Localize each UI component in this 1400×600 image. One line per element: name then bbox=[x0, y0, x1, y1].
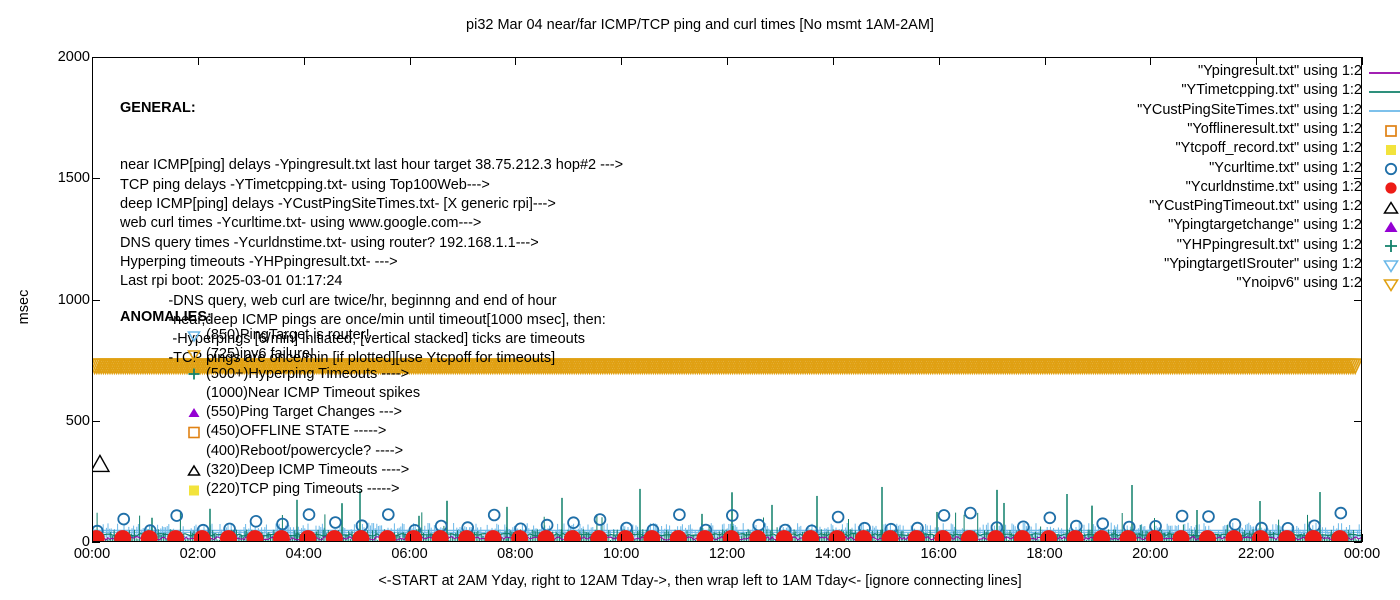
page-title: pi32 Mar 04 near/far ICMP/TCP ping and c… bbox=[0, 17, 1400, 33]
x-tick-mark bbox=[1362, 57, 1363, 65]
anomaly-row: (320)Deep ICMP Timeouts ----> bbox=[206, 461, 420, 480]
legend-key-triangle-up-fill-icon bbox=[1369, 219, 1400, 235]
anomaly-label: (550)Ping Target Changes ---> bbox=[206, 404, 402, 420]
x-tick-mark bbox=[1256, 534, 1257, 542]
legend-key-line-icon bbox=[1369, 84, 1400, 100]
x-tick-mark bbox=[92, 534, 93, 542]
anomaly-label: (450)OFFLINE STATE -----> bbox=[206, 423, 386, 439]
legend-label: "Ytcpoff_record.txt" using 1:2 bbox=[1175, 140, 1362, 156]
legend-label: "YHPpingresult.txt" using 1:2 bbox=[1177, 237, 1362, 253]
legend-key-line-icon bbox=[1369, 65, 1400, 81]
legend-row: "YpingtargetISrouter" using 1:2 bbox=[1164, 256, 1362, 275]
plus-icon bbox=[186, 366, 202, 382]
legend-key-square-open-icon bbox=[1369, 123, 1400, 139]
y-tick-label: 1000 bbox=[58, 292, 90, 308]
y-tick-mark bbox=[1354, 57, 1362, 58]
square-icon bbox=[186, 482, 202, 498]
x-tick-label: 22:00 bbox=[1238, 546, 1274, 562]
x-tick-mark bbox=[92, 57, 93, 65]
legend-key-line-icon bbox=[1369, 103, 1400, 119]
legend-row: "Ypingresult.txt" using 1:2 bbox=[1198, 63, 1362, 82]
x-tick-label: 06:00 bbox=[391, 546, 427, 562]
legend-label: "Ypingresult.txt" using 1:2 bbox=[1198, 63, 1362, 79]
general-line: Last rpi boot: 2025-03-01 01:17:24 bbox=[120, 272, 623, 291]
anomalies-heading: ANOMALIES: bbox=[120, 309, 212, 328]
anomaly-label: (1000)Near ICMP Timeout spikes bbox=[206, 385, 420, 401]
anomaly-label: (220)TCP ping Timeouts -----> bbox=[206, 481, 400, 497]
general-heading: GENERAL: bbox=[120, 99, 623, 118]
x-tick-label: 08:00 bbox=[497, 546, 533, 562]
legend-key-triangle-up-open-icon bbox=[1369, 200, 1400, 216]
x-tick-label: 00:00 bbox=[1344, 546, 1380, 562]
anomaly-row: (850)PingTarget is router! bbox=[206, 326, 420, 345]
x-tick-mark bbox=[1150, 57, 1151, 65]
anomaly-row: (1000)Near ICMP Timeout spikes bbox=[206, 384, 420, 403]
legend-row: "Ycurltime.txt" using 1:2 bbox=[1209, 160, 1362, 179]
anomaly-label: (400)Reboot/powercycle? ----> bbox=[206, 443, 403, 459]
anomaly-label: (725)ipv6 failure! bbox=[206, 346, 314, 362]
triangle-down-icon bbox=[186, 347, 202, 363]
x-tick-mark bbox=[1045, 534, 1046, 542]
y-axis-label: msec bbox=[16, 267, 32, 347]
general-line: DNS query times -Ycurldnstime.txt- using… bbox=[120, 234, 623, 253]
y-tick-mark bbox=[92, 421, 100, 422]
anomaly-row: (725)ipv6 failure! bbox=[206, 345, 420, 364]
x-tick-label: 04:00 bbox=[286, 546, 322, 562]
x-tick-label: 14:00 bbox=[815, 546, 851, 562]
general-line: Hyperping timeouts -YHPpingresult.txt- -… bbox=[120, 253, 623, 272]
general-line: web curl times -Ycurltime.txt- using www… bbox=[120, 214, 623, 233]
legend-label: "YCustPingSiteTimes.txt" using 1:2 bbox=[1137, 102, 1362, 118]
legend-label: "Ynoipv6" using 1:2 bbox=[1236, 275, 1362, 291]
legend-row: "YCustPingSiteTimes.txt" using 1:2 bbox=[1137, 102, 1362, 121]
general-line: -DNS query, web curl are twice/hr, begin… bbox=[120, 292, 623, 311]
x-axis-caption: <-START at 2AM Yday, right to 12AM Tday-… bbox=[0, 573, 1400, 589]
legend-key-circle-fill-icon bbox=[1369, 180, 1400, 196]
no-marker bbox=[186, 386, 202, 402]
legend-key-square-fill-icon bbox=[1369, 142, 1400, 158]
x-tick-mark bbox=[833, 57, 834, 65]
anomaly-label: (850)PingTarget is router! bbox=[206, 327, 370, 343]
x-tick-mark bbox=[833, 534, 834, 542]
x-tick-mark bbox=[515, 534, 516, 542]
legend-label: "YCustPingTimeout.txt" using 1:2 bbox=[1149, 198, 1362, 214]
no-marker bbox=[186, 443, 202, 459]
anomaly-row: (550)Ping Target Changes ---> bbox=[206, 403, 420, 422]
legend-label: "Yofflineresult.txt" using 1:2 bbox=[1187, 121, 1362, 137]
x-tick-mark bbox=[939, 534, 940, 542]
x-tick-label: 10:00 bbox=[603, 546, 639, 562]
y-tick-label: 500 bbox=[66, 413, 90, 429]
anomaly-row: (450)OFFLINE STATE -----> bbox=[206, 422, 420, 441]
x-tick-mark bbox=[410, 534, 411, 542]
legend-key-plus-icon bbox=[1369, 238, 1400, 254]
anomaly-label: (500+)Hyperping Timeouts ----> bbox=[206, 366, 409, 382]
y-tick-mark bbox=[92, 300, 100, 301]
legend-label: "Ycurldnstime.txt" using 1:2 bbox=[1186, 179, 1362, 195]
legend-row: "Ynoipv6" using 1:2 bbox=[1236, 275, 1362, 294]
y-tick-mark bbox=[92, 57, 100, 58]
legend-row: "Ytcpoff_record.txt" using 1:2 bbox=[1175, 140, 1362, 159]
anomaly-row: (220)TCP ping Timeouts -----> bbox=[206, 480, 420, 499]
legend-row: "Ypingtargetchange" using 1:2 bbox=[1168, 217, 1362, 236]
x-tick-label: 02:00 bbox=[180, 546, 216, 562]
triangle-down-icon bbox=[186, 328, 202, 344]
legend-label: "YTimetcpping.txt" using 1:2 bbox=[1181, 82, 1362, 98]
y-tick-mark bbox=[1354, 300, 1362, 301]
x-tick-mark bbox=[727, 534, 728, 542]
legend-key-triangle-dn-open-icon bbox=[1369, 258, 1400, 274]
legend-row: "YCustPingTimeout.txt" using 1:2 bbox=[1149, 198, 1362, 217]
general-line: near ICMP[ping] delays -Ypingresult.txt … bbox=[120, 156, 623, 175]
x-tick-label: 16:00 bbox=[921, 546, 957, 562]
y-tick-mark bbox=[1354, 542, 1362, 543]
legend-key-circle-open-icon bbox=[1369, 161, 1400, 177]
anomalies-annotation-block: (850)PingTarget is router!(725)ipv6 fail… bbox=[206, 326, 420, 500]
legend-row: "Ycurldnstime.txt" using 1:2 bbox=[1186, 179, 1362, 198]
legend-label: "Ycurltime.txt" using 1:2 bbox=[1209, 160, 1362, 176]
y-tick-mark bbox=[1354, 421, 1362, 422]
triangle-up-icon bbox=[186, 405, 202, 421]
x-tick-label: 00:00 bbox=[74, 546, 110, 562]
legend-label: "Ypingtargetchange" using 1:2 bbox=[1168, 217, 1362, 233]
anomaly-row: (500+)Hyperping Timeouts ----> bbox=[206, 365, 420, 384]
x-tick-label: 12:00 bbox=[709, 546, 745, 562]
anomaly-row: (400)Reboot/powercycle? ----> bbox=[206, 442, 420, 461]
x-tick-mark bbox=[198, 534, 199, 542]
legend-row: "Yofflineresult.txt" using 1:2 bbox=[1187, 121, 1362, 140]
x-tick-label: 20:00 bbox=[1132, 546, 1168, 562]
y-tick-mark bbox=[92, 178, 100, 179]
triangle-up-icon bbox=[186, 463, 202, 479]
y-tick-label: 1500 bbox=[58, 170, 90, 186]
legend-key-triangle-dn-open-icon bbox=[1369, 277, 1400, 293]
x-tick-mark bbox=[1362, 534, 1363, 542]
x-tick-mark bbox=[621, 534, 622, 542]
x-tick-mark bbox=[1045, 57, 1046, 65]
square-icon bbox=[186, 424, 202, 440]
legend-row: "YHPpingresult.txt" using 1:2 bbox=[1177, 237, 1362, 256]
y-tick-mark bbox=[92, 542, 100, 543]
x-tick-mark bbox=[1150, 534, 1151, 542]
legend-row: "YTimetcpping.txt" using 1:2 bbox=[1181, 82, 1362, 101]
general-line: TCP ping delays -YTimetcpping.txt- using… bbox=[120, 176, 623, 195]
anomaly-label: (320)Deep ICMP Timeouts ----> bbox=[206, 462, 409, 478]
general-line: deep ICMP[ping] delays -YCustPingSiteTim… bbox=[120, 195, 623, 214]
x-tick-mark bbox=[727, 57, 728, 65]
x-tick-label: 18:00 bbox=[1026, 546, 1062, 562]
legend-label: "YpingtargetISrouter" using 1:2 bbox=[1164, 256, 1362, 272]
y-tick-label: 2000 bbox=[58, 49, 90, 65]
x-tick-mark bbox=[939, 57, 940, 65]
x-tick-mark bbox=[304, 534, 305, 542]
